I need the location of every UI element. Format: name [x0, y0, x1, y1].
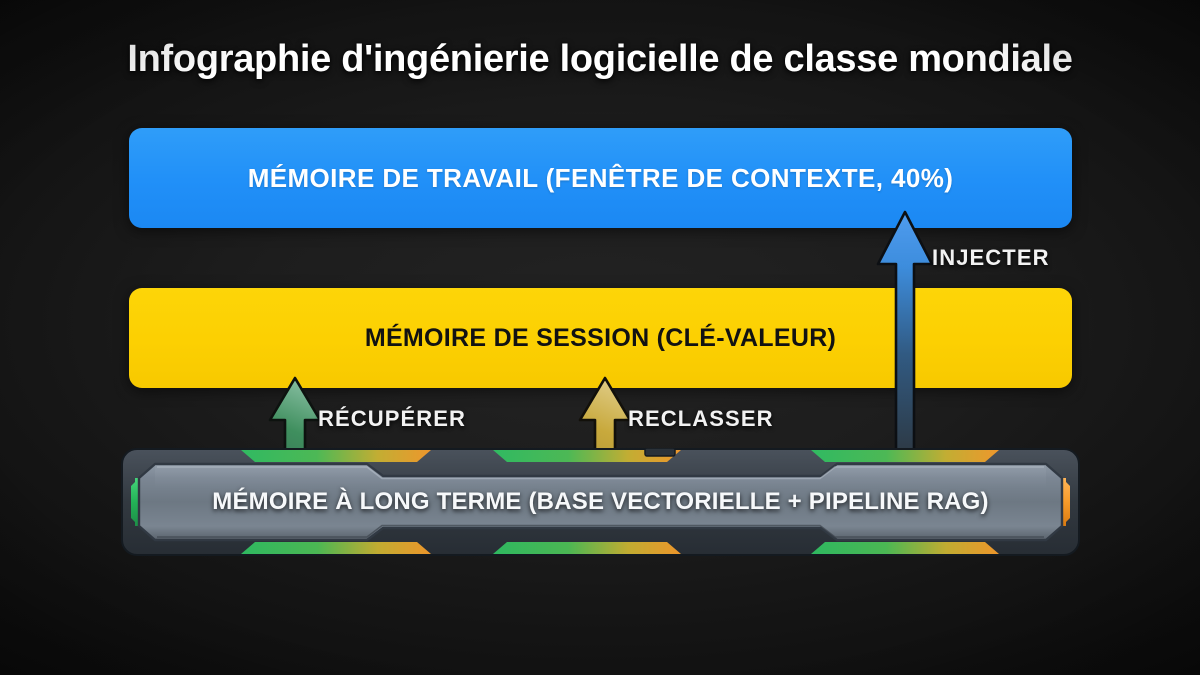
flow-label-retrieve: RÉCUPÉRER — [318, 406, 466, 432]
flow-label-rerank: RECLASSER — [628, 406, 774, 432]
page-title: Infographie d'ingénierie logicielle de c… — [0, 38, 1200, 81]
layer-working-memory-label: MÉMOIRE DE TRAVAIL (FENÊTRE DE CONTEXTE,… — [248, 163, 954, 194]
long-term-memory-panel-graphic — [121, 448, 1080, 556]
layer-long-term-memory[interactable]: MÉMOIRE À LONG TERME (BASE VECTORIELLE +… — [121, 448, 1080, 556]
layer-session-memory-label: MÉMOIRE DE SESSION (CLÉ-VALEUR) — [365, 324, 836, 353]
infographic-canvas: Infographie d'ingénierie logicielle de c… — [0, 0, 1200, 675]
flow-label-inject: INJECTER — [932, 245, 1050, 271]
